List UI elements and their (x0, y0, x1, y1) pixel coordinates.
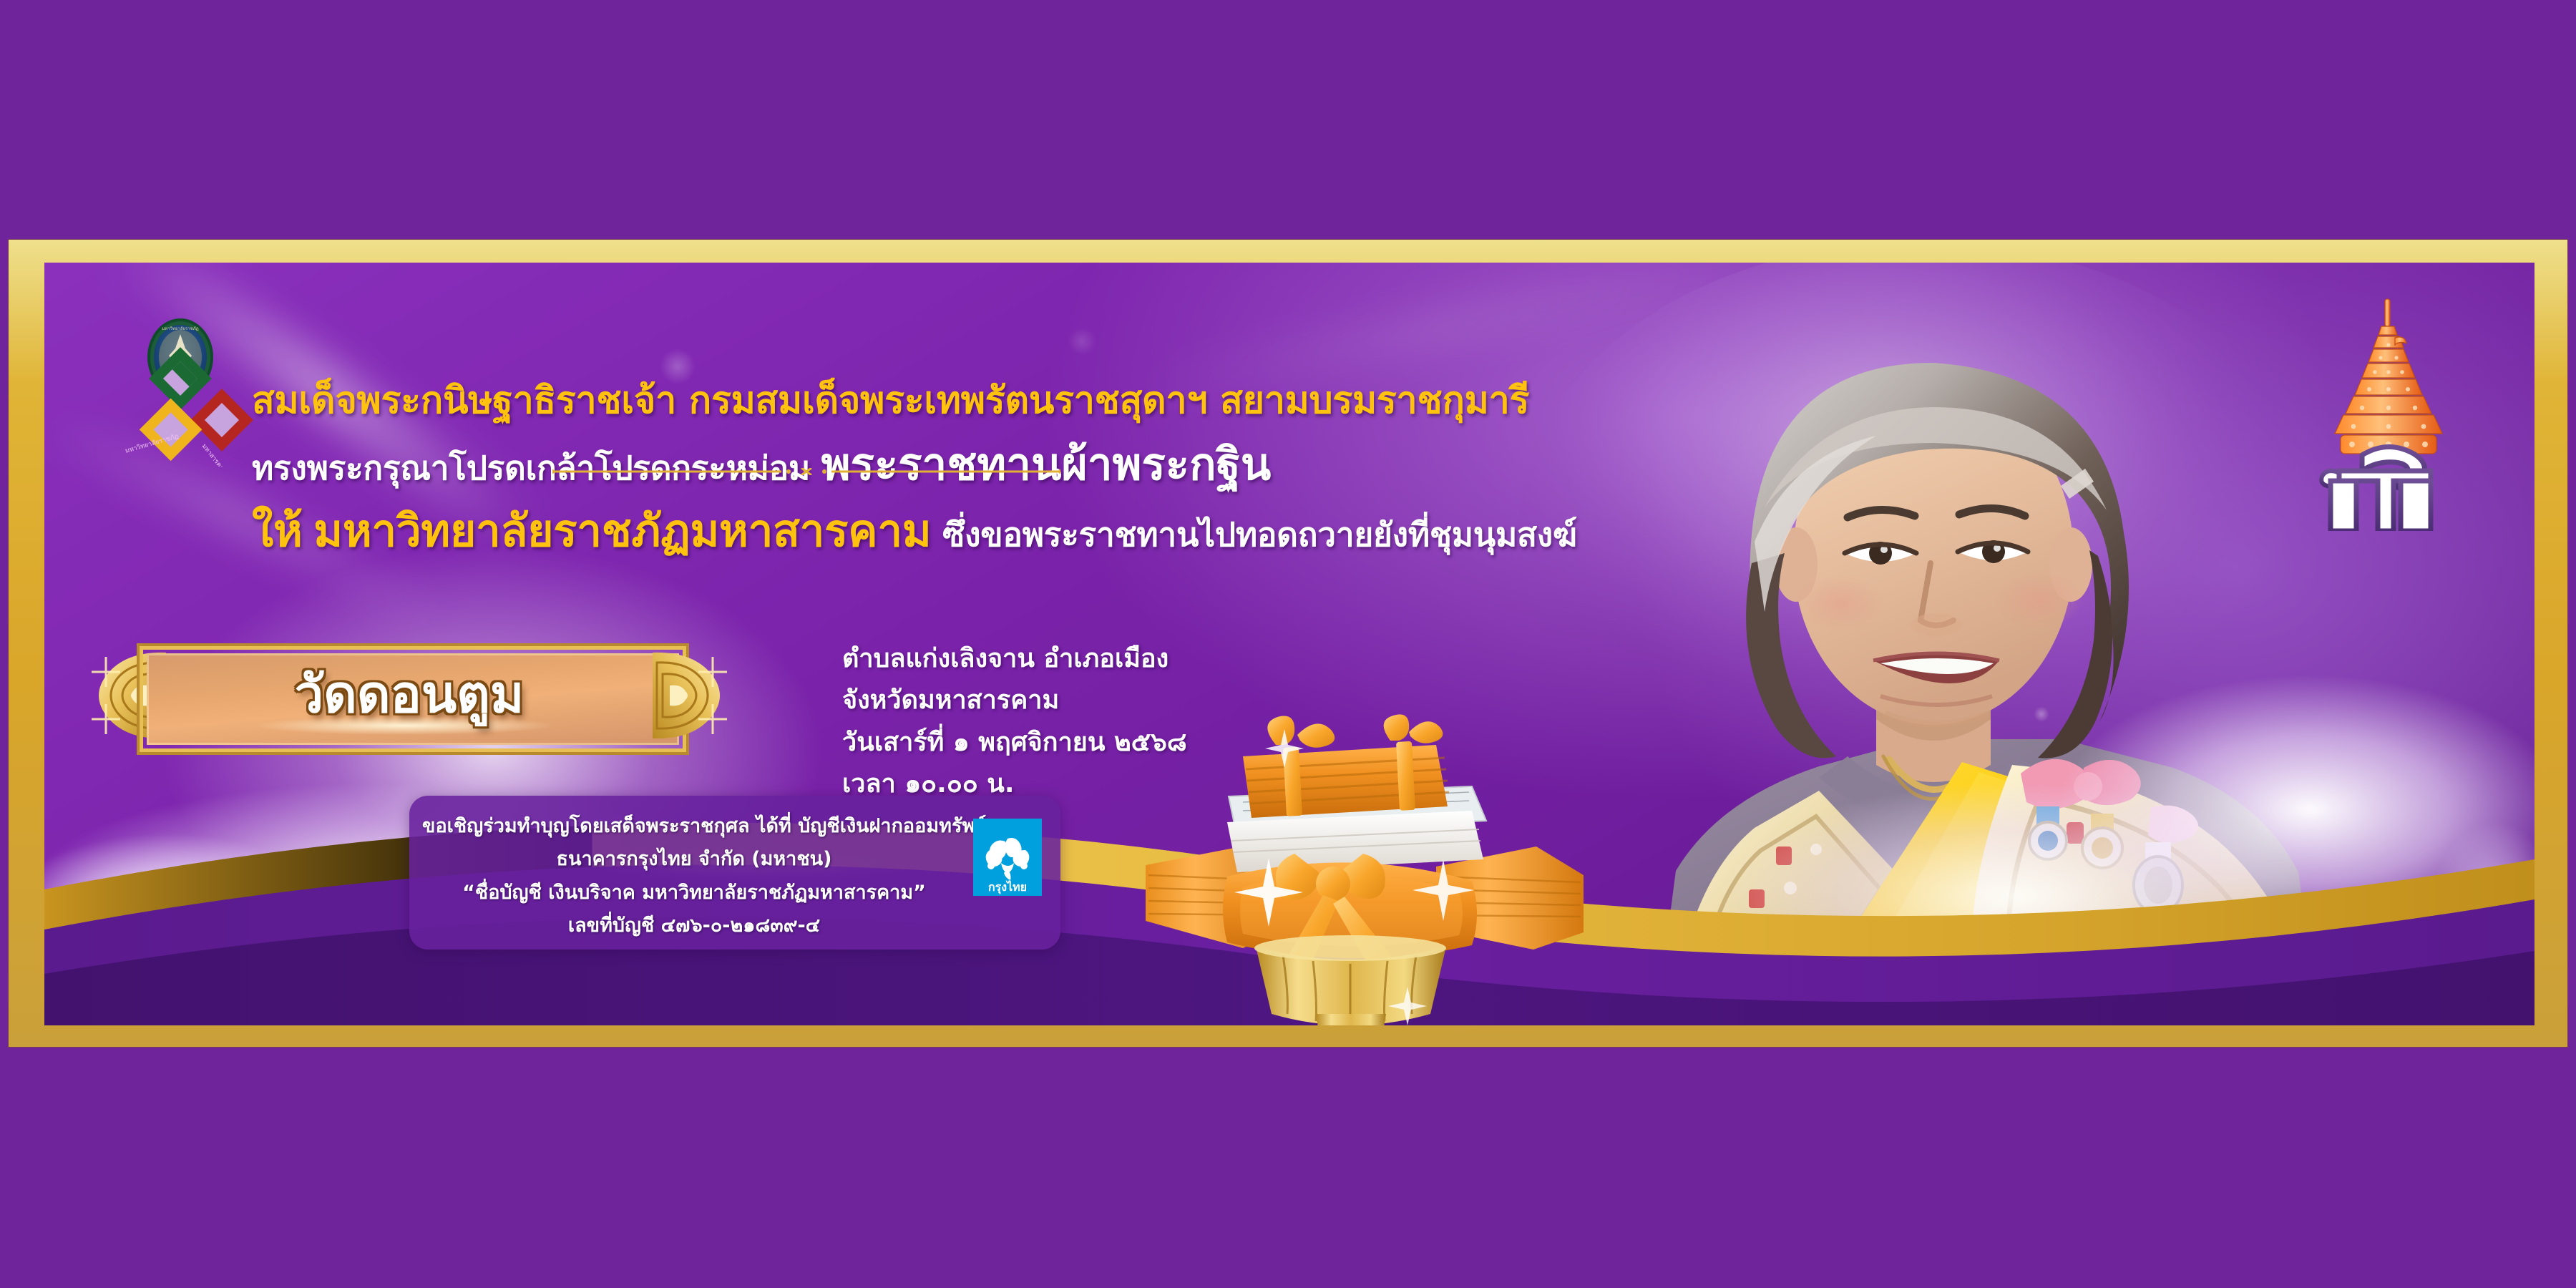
vayupak-bird-icon (984, 834, 1031, 880)
venue-line-1: ตำบลแก่งเลิงจาน อำเภอเมือง (842, 638, 1187, 680)
royal-cypher-emblem (2309, 295, 2474, 531)
banner-gold-frame: มหาวิทยาลัยราชภัฏ มหาสารคาม (9, 240, 2567, 1047)
donation-info-box: ขอเชิญร่วมทำบุญโดยเสด็จพระราชกุศล ได้ที่… (409, 796, 1060, 950)
svg-text:มหาวิทยาลัยราชภัฏ: มหาวิทยาลัยราชภัฏ (162, 326, 198, 331)
headline-line-3: ให้ มหาวิทยาลัยราชภัฏมหาสารคาม ซึ่งขอพระ… (252, 507, 1855, 555)
headline-line-3-organization: มหาวิทยาลัยราชภัฏมหาสารคาม (313, 504, 931, 557)
donation-line-3: “ชื่อบัญชี เงินบริจาค มหาวิทยาลัยราชภัฏม… (422, 877, 966, 909)
headline-line-2-emphasis: พระราชทานผ้าพระกฐิน (821, 438, 1271, 490)
temple-nameplate: วัดดอนตูม (87, 645, 731, 746)
temple-name: วัดดอนตูม (87, 653, 731, 735)
donation-line-1: ขอเชิญร่วมทำบุญโดยเสด็จพระราชกุศล ได้ที่… (422, 810, 966, 843)
donation-text: ขอเชิญร่วมทำบุญโดยเสด็จพระราชกุศล ได้ที่… (422, 810, 966, 943)
banner-content-area: มหาวิทยาลัยราชภัฏ มหาสารคาม (44, 263, 2534, 1025)
headline-line-3-suffix: ซึ่งขอพระราชทานไปทอดถวายยังที่ชุมนุมสงฆ์ (942, 515, 1577, 554)
donation-line-4: เลขที่บัญชี ๔๗๖-๐-๒๑๘๓๙-๔ (422, 909, 966, 942)
nameplate-ornament-right (645, 645, 731, 746)
kathina-robes-offering (1136, 706, 1594, 1025)
headline-line-3-prefix: ให้ (252, 504, 303, 557)
gold-divider-ornament (552, 468, 1060, 475)
university-logo: มหาวิทยาลัยราชภัฏ มหาสารคาม (102, 313, 259, 467)
donation-line-2: ธนาคารกรุงไทย จำกัด (มหาชน) (422, 843, 966, 876)
krungthai-bank-logo: กรุงไทย (973, 819, 1042, 896)
headline-line-2: ทรงพระกรุณาโปรดเกล้าโปรดกระหม่อม พระราชท… (252, 441, 1855, 489)
headline-line-1: สมเด็จพระกนิษฐาธิราชเจ้า กรมสมเด็จพระเทพ… (252, 381, 1855, 421)
bank-logo-word: กรุงไทย (988, 882, 1027, 893)
banner-stage: มหาวิทยาลัยราชภัฏ มหาสารคาม (0, 0, 2576, 1288)
